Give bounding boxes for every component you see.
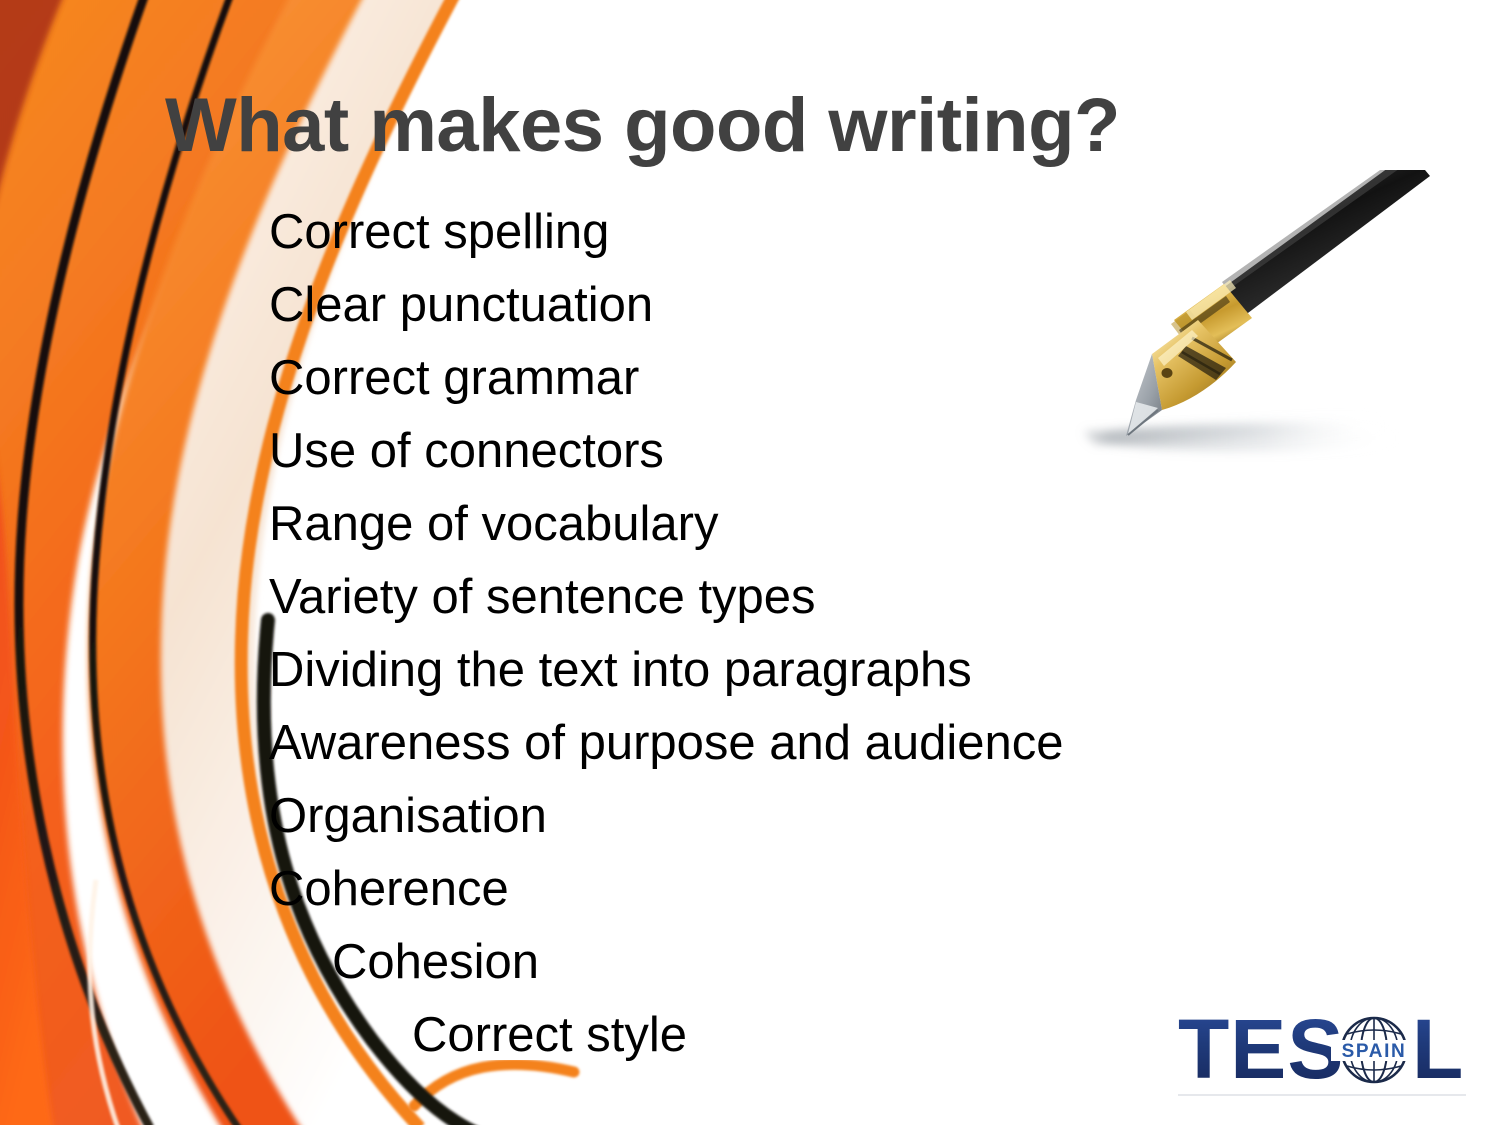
logo-lead-text: TES (1178, 1002, 1344, 1096)
list-item: Correct spelling (0, 196, 1100, 269)
list-item: Coherence (0, 853, 1100, 926)
list-item: Correct grammar (0, 342, 1100, 415)
list-item: Correct style (0, 999, 1100, 1072)
list-item: Cohesion (0, 926, 1100, 999)
tesol-spain-logo: TES SPAIN L (1178, 1002, 1478, 1102)
list-item: Dividing the text into paragraphs (0, 634, 1100, 707)
list-item: Organisation (0, 780, 1100, 853)
slide-title: What makes good writing? (165, 82, 1120, 169)
fountain-pen-image (1040, 170, 1430, 490)
logo-banner-text: SPAIN (1342, 1041, 1407, 1062)
list-item: Awareness of purpose and audience (0, 707, 1100, 780)
list-item: Range of vocabulary (0, 488, 1100, 561)
presentation-slide: What makes good writing? Correct spellin… (0, 0, 1500, 1125)
bullet-list: Correct spelling Clear punctuation Corre… (0, 196, 1100, 1072)
logo-trail-text: L (1412, 1002, 1463, 1096)
list-item: Clear punctuation (0, 269, 1100, 342)
list-item: Use of connectors (0, 415, 1100, 488)
list-item: Variety of sentence types (0, 561, 1100, 634)
